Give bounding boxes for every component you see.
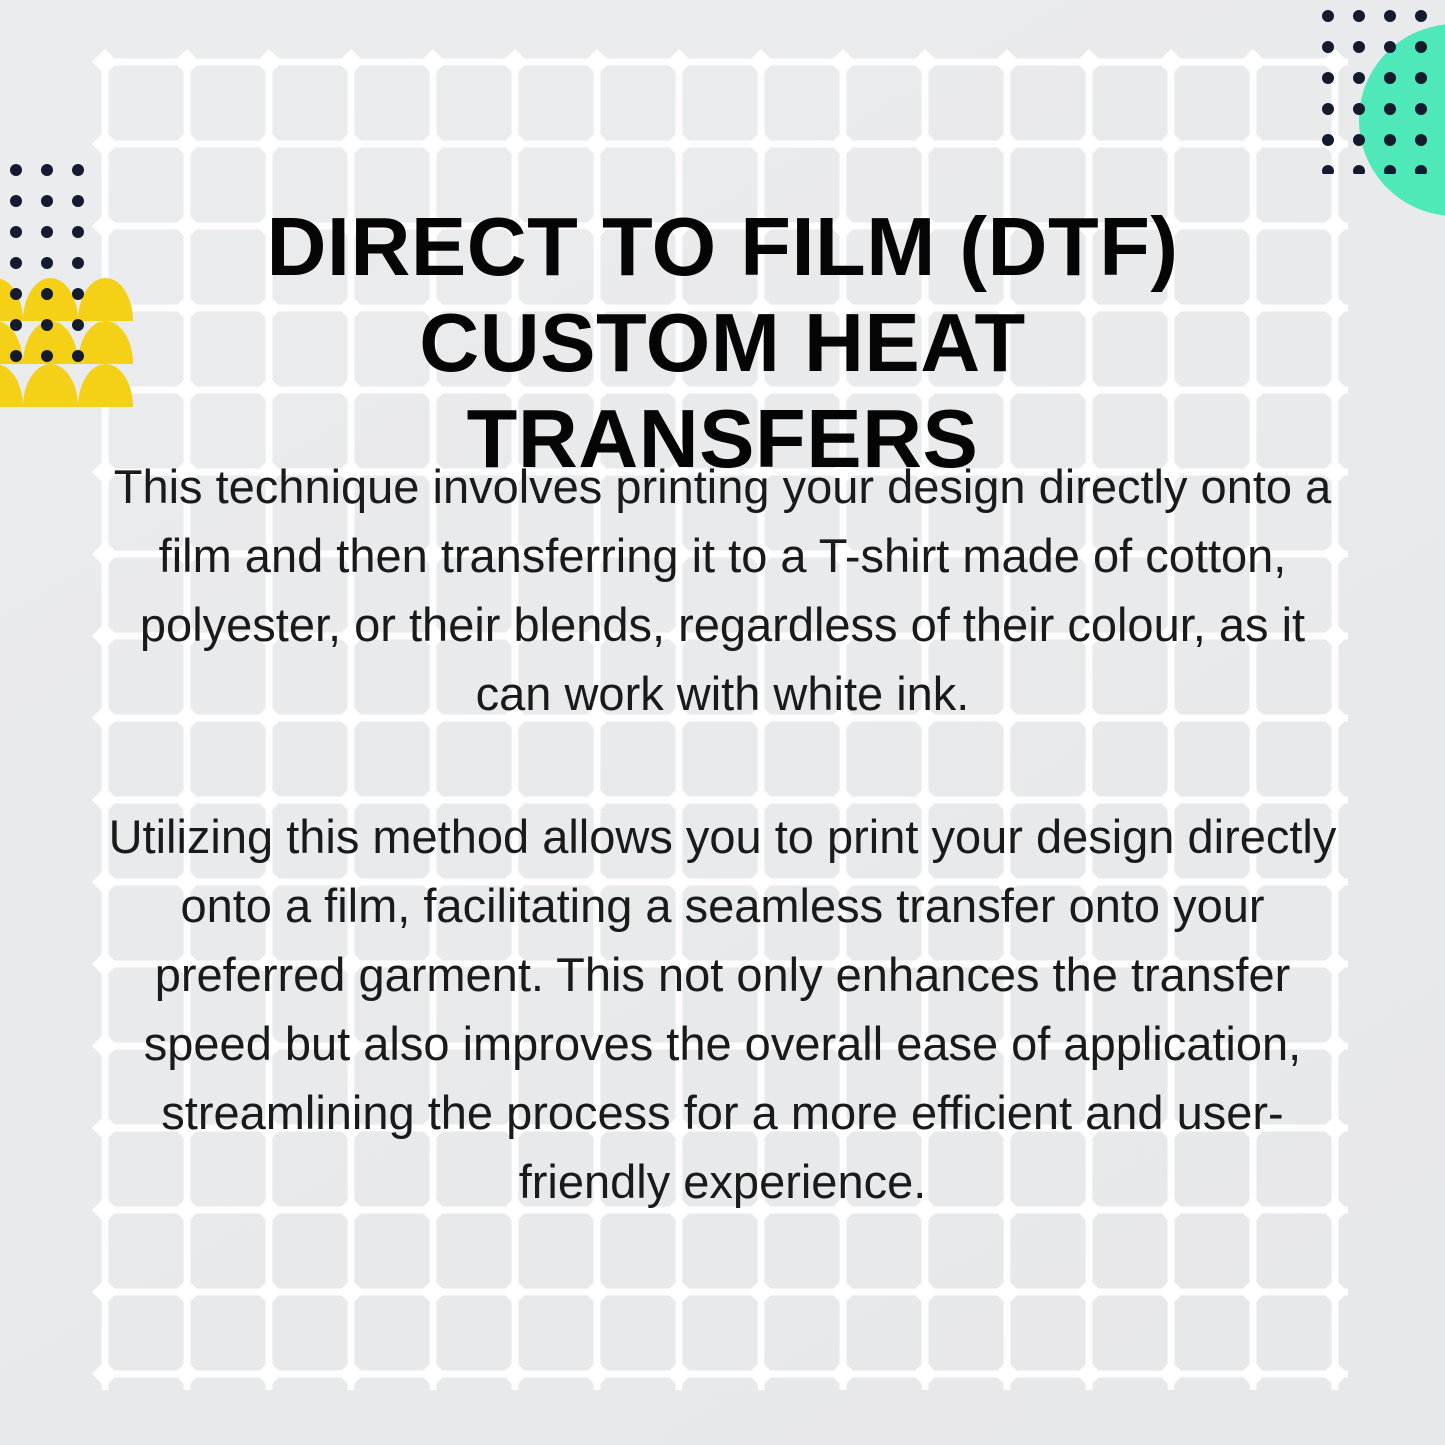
page-title: DIRECT TO FILM (DTF) CUSTOM HEAT TRANSFE…: [163, 199, 1283, 487]
paragraph-2: Utilizing this method allows you to prin…: [89, 802, 1357, 1216]
body-copy: This technique involves printing your de…: [88, 452, 1358, 1216]
poster-canvas: DIRECT TO FILM (DTF) CUSTOM HEAT TRANSFE…: [0, 0, 1445, 1445]
poster-content: DIRECT TO FILM (DTF) CUSTOM HEAT TRANSFE…: [0, 0, 1445, 1445]
page-title-line-1: DIRECT TO FILM (DTF): [163, 199, 1283, 295]
paragraph-1: This technique involves printing your de…: [98, 452, 1348, 728]
